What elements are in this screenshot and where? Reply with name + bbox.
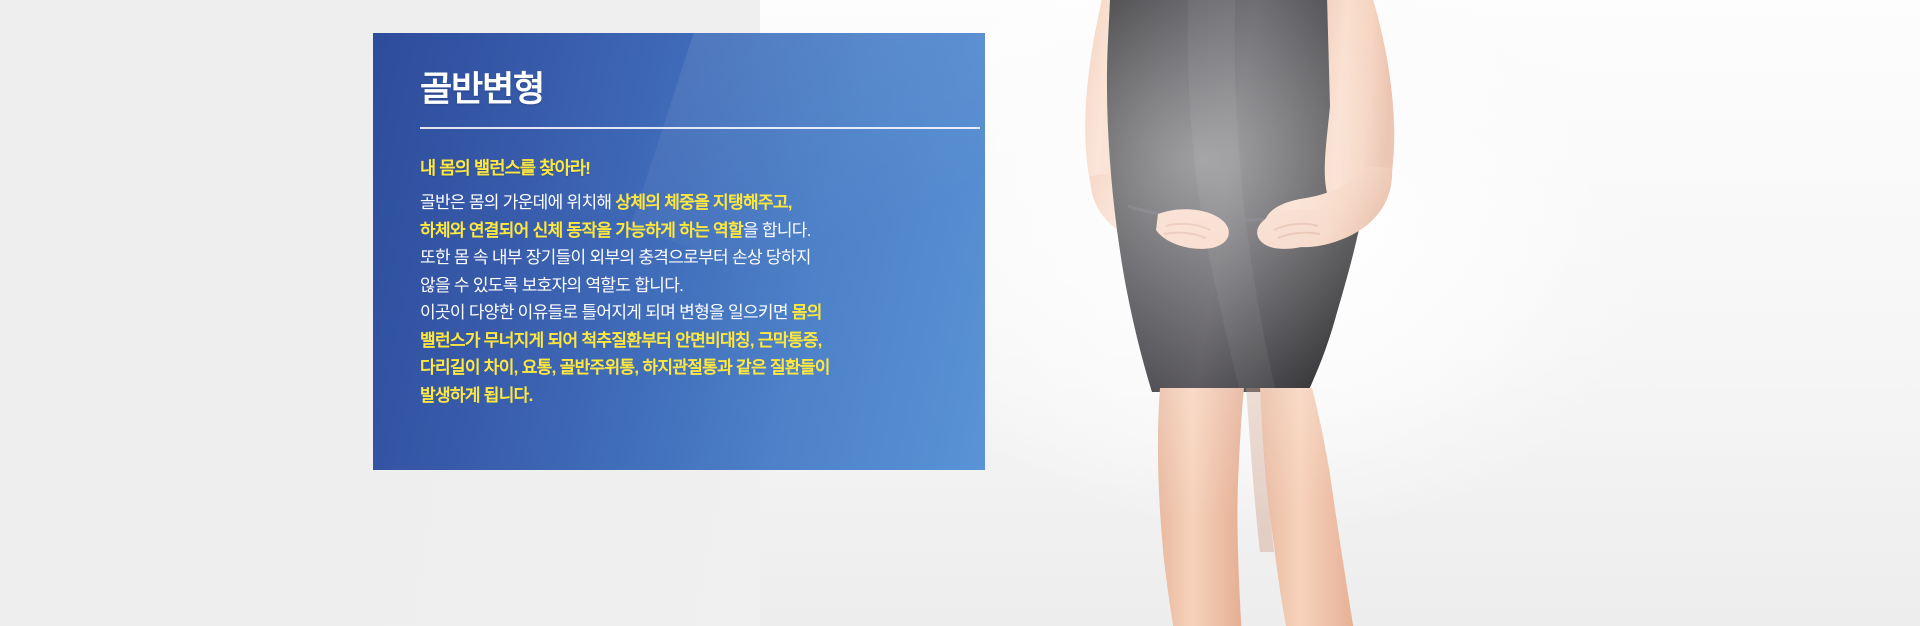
paragraph-line: 밸런스가 무너지게 되어 척추질환부터 안면비대칭, 근막통증, <box>420 327 960 355</box>
panel-subtitle: 내 몸의 밸런스를 찾아라! <box>420 155 943 180</box>
title-divider <box>420 127 980 129</box>
paragraph-line: 골반은 몸의 가운데에 위치해 상체의 체중을 지탱해주고, <box>420 189 960 217</box>
paragraph-p3: 이곳이 다양한 이유들로 틀어지게 되며 변형을 일으키면 몸의밸런스가 무너지… <box>420 299 960 409</box>
text-highlight: 상체의 체중을 지탱해주고, <box>615 193 791 212</box>
text-highlight: 발생하게 됩니다. <box>420 386 533 405</box>
text-plain: 을 합니다. <box>743 221 811 240</box>
paragraph-line: 이곳이 다양한 이유들로 틀어지게 되며 변형을 일으키면 몸의 <box>420 299 960 327</box>
panel-body-text: 골반은 몸의 가운데에 위치해 상체의 체중을 지탱해주고,하체와 연결되어 신… <box>420 189 960 409</box>
text-highlight: 몸의 <box>792 303 822 322</box>
paragraph-line: 다리길이 차이, 요통, 골반주위통, 하지관절통과 같은 질환들이 <box>420 354 960 382</box>
paragraph-line: 발생하게 됩니다. <box>420 382 960 410</box>
paragraph-line: 하체와 연결되어 신체 동작을 가능하게 하는 역할을 합니다. <box>420 217 960 245</box>
banner-stage: 골반변형 내 몸의 밸런스를 찾아라! 골반은 몸의 가운데에 위치해 상체의 … <box>0 0 1920 626</box>
paragraph-p2: 또한 몸 속 내부 장기들이 외부의 충격으로부터 손상 당하지않을 수 있도록… <box>420 244 960 299</box>
paragraph-p1: 골반은 몸의 가운데에 위치해 상체의 체중을 지탱해주고,하체와 연결되어 신… <box>420 189 960 244</box>
text-highlight: 밸런스가 무너지게 되어 척추질환부터 안면비대칭, 근막통증, <box>420 331 822 350</box>
page-title: 골반변형 <box>420 69 943 111</box>
text-plain: 이곳이 다양한 이유들로 틀어지게 되며 변형을 일으키면 <box>420 303 792 322</box>
text-plain: 않을 수 있도록 보호자의 역할도 합니다. <box>420 276 683 295</box>
info-panel: 골반변형 내 몸의 밸런스를 찾아라! 골반은 몸의 가운데에 위치해 상체의 … <box>373 33 985 470</box>
text-highlight: 다리길이 차이, 요통, 골반주위통, 하지관절통과 같은 질환들이 <box>420 358 830 377</box>
text-highlight: 하체와 연결되어 신체 동작을 가능하게 하는 역할 <box>420 221 743 240</box>
text-plain: 골반은 몸의 가운데에 위치해 <box>420 193 615 212</box>
text-plain: 또한 몸 속 내부 장기들이 외부의 충격으로부터 손상 당하지 <box>420 248 811 267</box>
paragraph-line: 또한 몸 속 내부 장기들이 외부의 충격으로부터 손상 당하지 <box>420 244 960 272</box>
paragraph-line: 않을 수 있도록 보호자의 역할도 합니다. <box>420 272 960 300</box>
